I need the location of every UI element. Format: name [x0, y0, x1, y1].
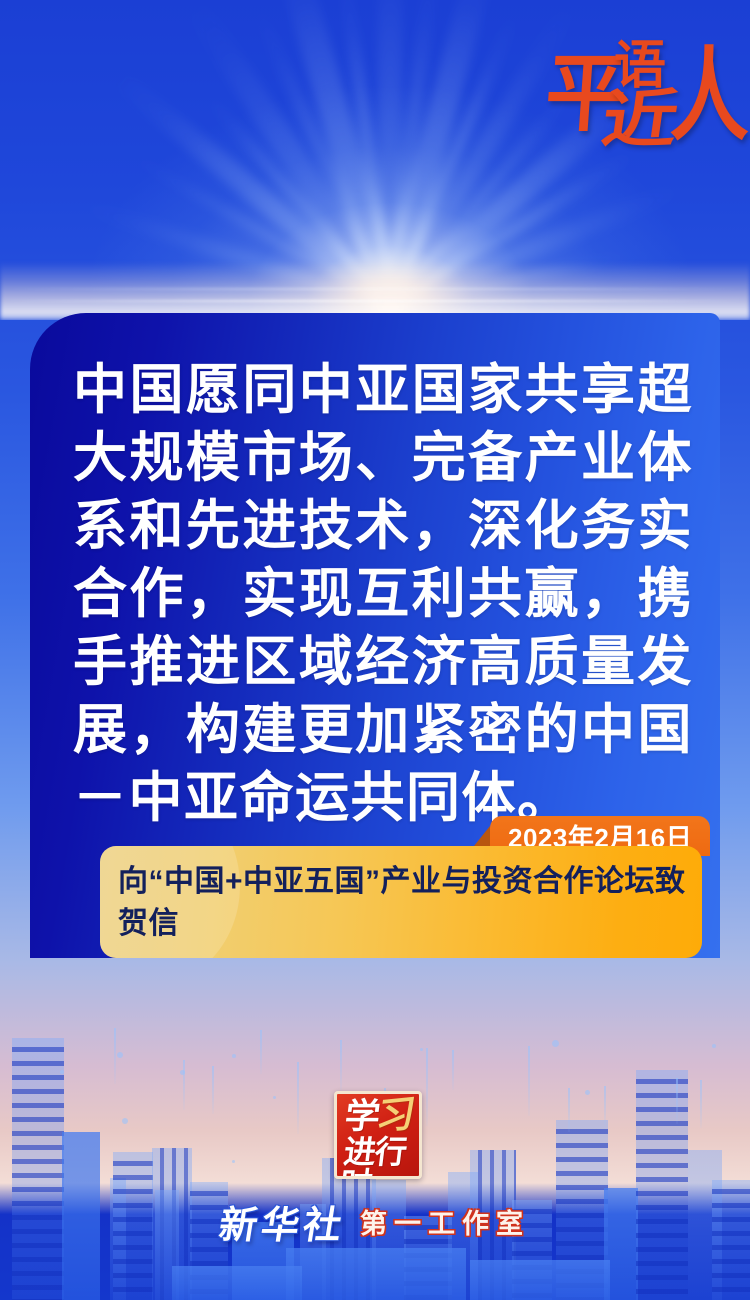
floating-dot: [117, 1052, 123, 1058]
floating-dot: [232, 1160, 235, 1163]
brand-logo-pingyujinren: 平 语 人 近: [548, 34, 724, 162]
agency-name-xinhua: 新华社: [216, 1194, 351, 1249]
xuexi-jinxingshi-seal: 学 习 进行时: [334, 1091, 422, 1179]
caption-text: 向“中国+中亚五国”产业与投资合作论坛致贺信: [118, 861, 690, 945]
building-window-rows: [12, 1038, 64, 1300]
skyline-foreground-slab: [172, 1266, 302, 1300]
skyline-light-pin: [452, 1050, 454, 1090]
floating-dot: [712, 1044, 716, 1048]
skyline-light-pin: [604, 1086, 606, 1126]
horizon-streak-2: [0, 288, 750, 290]
logo-char-ren: 人: [669, 46, 748, 147]
skyline-light-pin: [568, 1088, 570, 1132]
floating-dot: [273, 1096, 276, 1099]
skyline-light-pin: [114, 1028, 116, 1084]
skyline-light-pin: [676, 1078, 678, 1124]
footer-credit-line: 新华社 第一工作室: [0, 1196, 750, 1246]
floating-dot: [232, 1054, 236, 1058]
skyline-light-pin: [183, 1060, 185, 1110]
seal-char-xi: 习: [374, 1094, 418, 1136]
horizon-streak-1: [0, 300, 750, 302]
quote-text: 中国愿同中亚国家共享超大规模市场、完备产业体系和先进技术，深化务实合作，实现互利…: [73, 356, 693, 832]
studio-name: 第一工作室: [360, 1202, 530, 1241]
caption-box: 向“中国+中亚五国”产业与投资合作论坛致贺信: [100, 846, 702, 958]
seal-row-2: 进行时: [338, 1136, 422, 1179]
skyline-light-pin: [700, 1080, 702, 1128]
skyline-light-pin: [426, 1048, 428, 1126]
horizon-haze: [0, 262, 750, 320]
floating-dot: [420, 1048, 423, 1051]
skyline-foreground-slab: [286, 1248, 466, 1300]
floating-dot: [585, 1090, 590, 1095]
floating-dot: [122, 1118, 128, 1124]
skyline-light-pin: [528, 1046, 530, 1116]
skyline-light-pin: [340, 1040, 342, 1092]
building-window-rows: [636, 1070, 688, 1300]
skyline-light-pin: [260, 1030, 262, 1074]
floating-dot: [552, 1040, 559, 1047]
skyline-foreground-slab: [470, 1260, 610, 1300]
skyline-building: [12, 1038, 64, 1300]
skyline-light-pin: [297, 1062, 299, 1134]
logo-char-jin: 近: [598, 89, 682, 152]
skyline-building: [636, 1070, 688, 1300]
skyline-light-pin: [212, 1066, 214, 1114]
floating-dot: [60, 1070, 64, 1074]
poster-root: 平 语 人 近 中国愿同中亚国家共享超大规模市场、完备产业体系和先进技术，深化务…: [0, 0, 750, 1300]
